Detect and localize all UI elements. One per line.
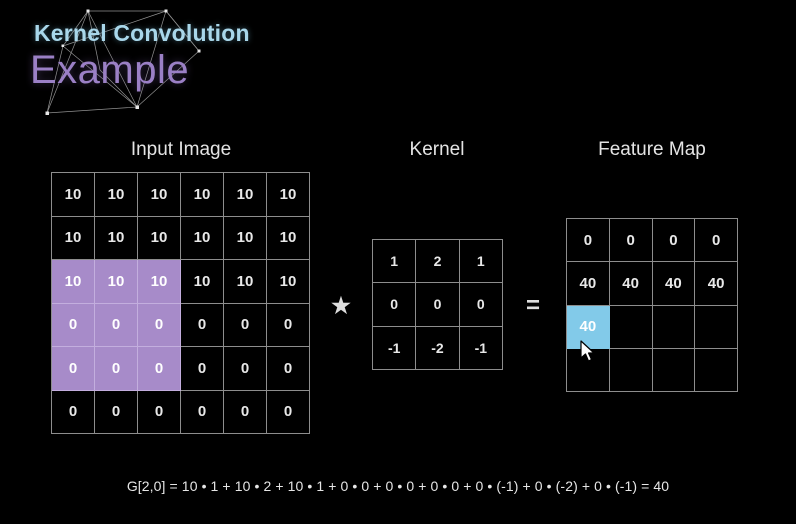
input-cell-0-4[interactable]: 10: [224, 173, 267, 217]
input-cell-5-1[interactable]: 0: [95, 391, 138, 435]
feature-cell-2-3[interactable]: [695, 306, 738, 349]
input-cell-0-0[interactable]: 10: [52, 173, 95, 217]
feature-cell-0-2[interactable]: 0: [653, 219, 696, 262]
input-cell-value: 10: [237, 186, 254, 203]
input-cell-value: 0: [112, 316, 120, 333]
input-cell-value: 0: [69, 360, 77, 377]
input-cell-value: 0: [198, 316, 206, 333]
kernel-cell-2-1[interactable]: -2: [416, 327, 459, 370]
page-subtitle: Example: [30, 48, 189, 93]
input-cell-value: 10: [194, 229, 211, 246]
input-cell-value: 10: [280, 229, 297, 246]
feature-cell-3-3[interactable]: [695, 349, 738, 392]
input-cell-value: 10: [237, 273, 254, 290]
input-cell-value: 10: [151, 229, 168, 246]
feature-map-label: Feature Map: [598, 139, 706, 161]
input-cell-5-5[interactable]: 0: [267, 391, 310, 435]
input-cell-2-0[interactable]: 10: [52, 260, 95, 304]
title-block: Kernel Convolution Example: [0, 0, 300, 128]
input-cell-3-5[interactable]: 0: [267, 304, 310, 348]
kernel-cell-value: 1: [390, 253, 398, 269]
feature-cell-2-2[interactable]: [653, 306, 696, 349]
input-image-grid: 1010101010101010101010101010101010100000…: [51, 172, 310, 434]
feature-map-grid: 00004040404040: [566, 218, 738, 392]
feature-cell-0-3[interactable]: 0: [695, 219, 738, 262]
input-cell-value: 10: [194, 186, 211, 203]
input-cell-3-3[interactable]: 0: [181, 304, 224, 348]
kernel-cell-value: -1: [388, 340, 400, 356]
input-cell-3-2[interactable]: 0: [138, 304, 181, 348]
input-cell-value: 0: [284, 316, 292, 333]
input-cell-value: 0: [284, 403, 292, 420]
kernel-cell-value: 0: [434, 296, 442, 312]
kernel-cell-value: 0: [477, 296, 485, 312]
feature-cell-value: 0: [626, 232, 634, 249]
convolution-formula: G[2,0] = 10 • 1 + 10 • 2 + 10 • 1 + 0 • …: [127, 478, 669, 494]
kernel-cell-2-2[interactable]: -1: [460, 327, 503, 370]
equals-operator: =: [526, 292, 540, 320]
kernel-cell-2-0[interactable]: -1: [373, 327, 416, 370]
input-cell-value: 0: [112, 360, 120, 377]
feature-cell-value: 0: [712, 232, 720, 249]
feature-cell-value: 40: [665, 275, 682, 292]
feature-cell-0-0[interactable]: 0: [567, 219, 610, 262]
input-cell-value: 10: [65, 273, 82, 290]
feature-cell-1-1[interactable]: 40: [610, 262, 653, 305]
kernel-cell-value: 1: [477, 253, 485, 269]
input-cell-value: 10: [108, 186, 125, 203]
input-cell-value: 10: [108, 273, 125, 290]
feature-cell-2-0[interactable]: 40: [567, 306, 610, 349]
input-cell-value: 10: [151, 186, 168, 203]
input-cell-2-4[interactable]: 10: [224, 260, 267, 304]
kernel-cell-0-1[interactable]: 2: [416, 240, 459, 283]
input-cell-value: 0: [198, 360, 206, 377]
input-cell-value: 10: [108, 229, 125, 246]
input-cell-value: 10: [280, 273, 297, 290]
input-cell-3-1[interactable]: 0: [95, 304, 138, 348]
input-cell-value: 10: [194, 273, 211, 290]
convolution-operator: ★: [331, 293, 351, 319]
feature-cell-2-1[interactable]: [610, 306, 653, 349]
feature-cell-3-2[interactable]: [653, 349, 696, 392]
kernel-cell-value: -1: [475, 340, 487, 356]
input-cell-4-5[interactable]: 0: [267, 347, 310, 391]
kernel-cell-1-1[interactable]: 0: [416, 283, 459, 326]
input-cell-value: 0: [241, 316, 249, 333]
input-cell-4-3[interactable]: 0: [181, 347, 224, 391]
input-cell-0-1[interactable]: 10: [95, 173, 138, 217]
feature-cell-value: 0: [669, 232, 677, 249]
input-cell-value: 0: [241, 360, 249, 377]
input-cell-1-0[interactable]: 10: [52, 217, 95, 261]
input-cell-value: 10: [65, 229, 82, 246]
input-cell-value: 0: [69, 316, 77, 333]
kernel-cell-0-0[interactable]: 1: [373, 240, 416, 283]
input-cell-value: 0: [155, 360, 163, 377]
feature-cell-value: 40: [580, 318, 597, 335]
input-cell-4-0[interactable]: 0: [52, 347, 95, 391]
input-cell-5-0[interactable]: 0: [52, 391, 95, 435]
input-image-label: Input Image: [131, 139, 231, 161]
input-cell-3-4[interactable]: 0: [224, 304, 267, 348]
input-cell-0-2[interactable]: 10: [138, 173, 181, 217]
feature-cell-0-1[interactable]: 0: [610, 219, 653, 262]
feature-cell-value: 40: [580, 275, 597, 292]
input-cell-value: 0: [112, 403, 120, 420]
input-cell-2-5[interactable]: 10: [267, 260, 310, 304]
input-cell-2-1[interactable]: 10: [95, 260, 138, 304]
feature-cell-value: 40: [708, 275, 725, 292]
input-cell-value: 10: [151, 273, 168, 290]
feature-cell-value: 0: [584, 232, 592, 249]
input-cell-value: 0: [69, 403, 77, 420]
kernel-cell-1-2[interactable]: 0: [460, 283, 503, 326]
input-cell-2-3[interactable]: 10: [181, 260, 224, 304]
kernel-cell-0-2[interactable]: 1: [460, 240, 503, 283]
input-cell-3-0[interactable]: 0: [52, 304, 95, 348]
feature-cell-value: 40: [622, 275, 639, 292]
input-cell-4-1[interactable]: 0: [95, 347, 138, 391]
input-cell-1-3[interactable]: 10: [181, 217, 224, 261]
input-cell-0-5[interactable]: 10: [267, 173, 310, 217]
input-cell-value: 0: [198, 403, 206, 420]
input-cell-value: 0: [155, 403, 163, 420]
input-cell-4-2[interactable]: 0: [138, 347, 181, 391]
input-cell-value: 10: [65, 186, 82, 203]
feature-cell-3-0[interactable]: [567, 349, 610, 392]
feature-cell-1-3[interactable]: 40: [695, 262, 738, 305]
feature-cell-1-2[interactable]: 40: [653, 262, 696, 305]
input-cell-5-4[interactable]: 0: [224, 391, 267, 435]
kernel-cell-value: 2: [434, 253, 442, 269]
input-cell-5-2[interactable]: 0: [138, 391, 181, 435]
page-title: Kernel Convolution: [34, 20, 250, 47]
input-cell-4-4[interactable]: 0: [224, 347, 267, 391]
kernel-cell-value: -2: [431, 340, 443, 356]
input-cell-5-3[interactable]: 0: [181, 391, 224, 435]
input-cell-2-2[interactable]: 10: [138, 260, 181, 304]
input-cell-1-5[interactable]: 10: [267, 217, 310, 261]
input-cell-value: 10: [280, 186, 297, 203]
kernel-cell-value: 0: [390, 296, 398, 312]
kernel-cell-1-0[interactable]: 0: [373, 283, 416, 326]
kernel-grid: 121000-1-2-1: [372, 239, 503, 370]
feature-cell-3-1[interactable]: [610, 349, 653, 392]
kernel-label: Kernel: [410, 139, 465, 161]
input-cell-value: 0: [284, 360, 292, 377]
input-cell-value: 10: [237, 229, 254, 246]
input-cell-1-4[interactable]: 10: [224, 217, 267, 261]
input-cell-1-1[interactable]: 10: [95, 217, 138, 261]
input-cell-1-2[interactable]: 10: [138, 217, 181, 261]
input-cell-value: 0: [241, 403, 249, 420]
input-cell-0-3[interactable]: 10: [181, 173, 224, 217]
feature-cell-1-0[interactable]: 40: [567, 262, 610, 305]
input-cell-value: 0: [155, 316, 163, 333]
